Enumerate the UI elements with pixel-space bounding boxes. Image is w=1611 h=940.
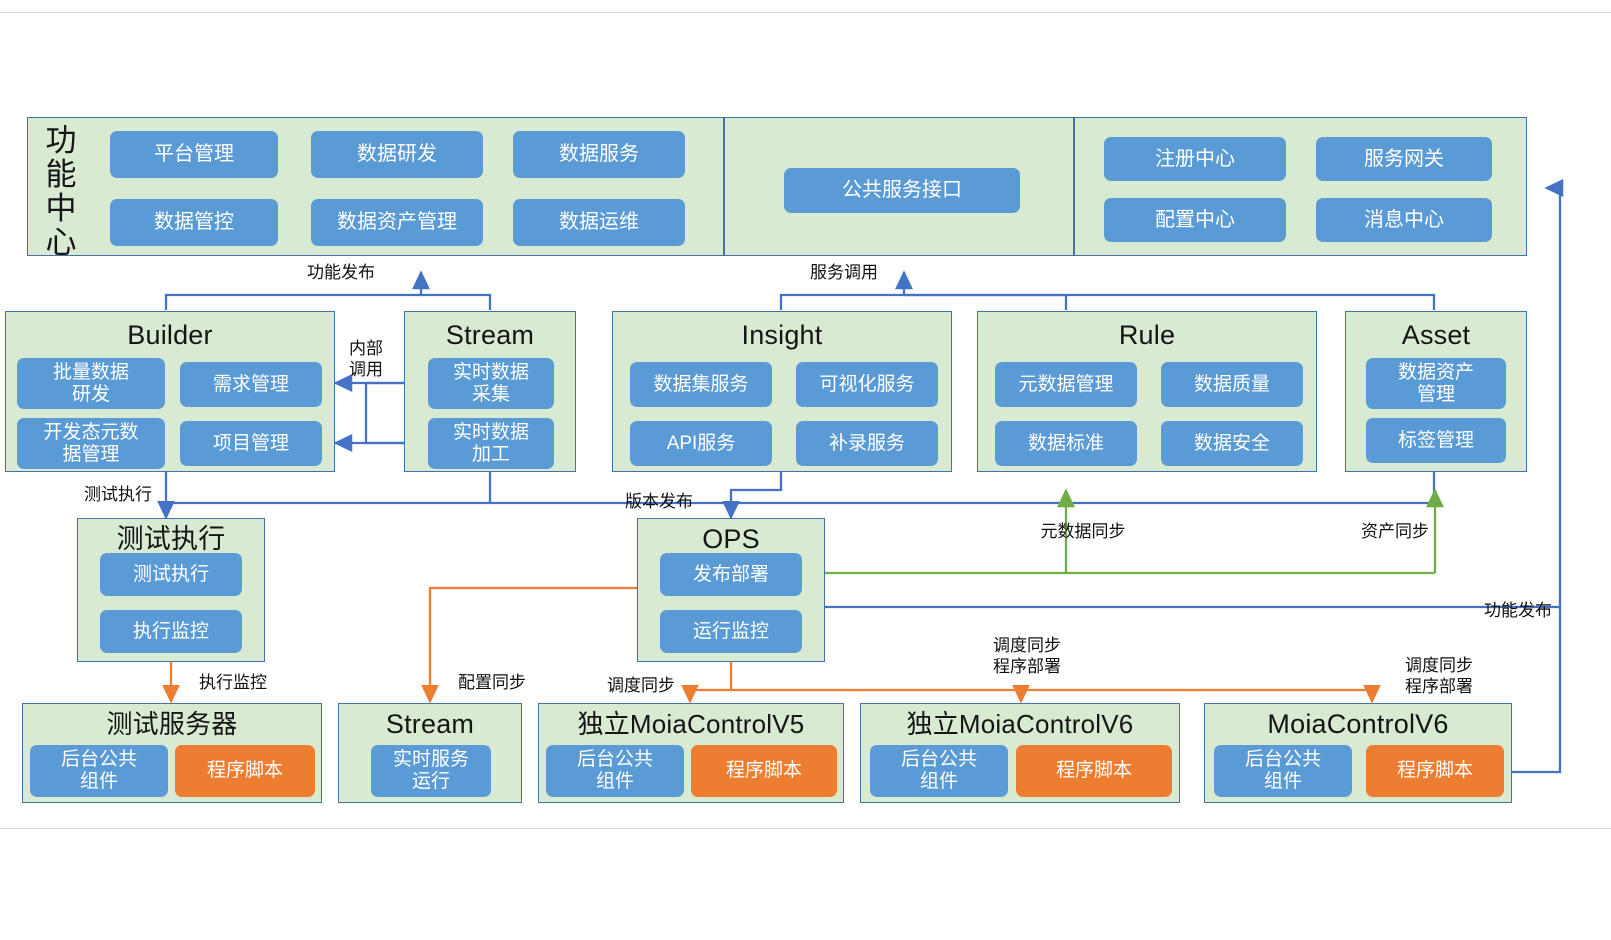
label-schedule-sync: 调度同步 — [589, 675, 693, 696]
chip-program-script-4[interactable]: 程序脚本 — [1366, 745, 1504, 797]
chip-data-governance[interactable]: 数据管控 — [110, 199, 278, 246]
label-test-execute: 测试执行 — [66, 484, 170, 505]
label-function-publish: 功能发布 — [281, 262, 401, 283]
chip-data-asset-management[interactable]: 数据资产管理 — [311, 199, 483, 246]
panel-rule-title: Rule — [977, 320, 1317, 350]
architecture-diagram: 功 能 中 心 平台管理 数据研发 数据服务 数据管控 数据资产管理 数据运维 … — [0, 0, 1611, 940]
label-metadata-sync: 元数据同步 — [1023, 521, 1143, 542]
chip-data-development[interactable]: 数据研发 — [311, 131, 483, 178]
panel-moia-v6-title: MoiaControlV6 — [1204, 709, 1512, 739]
function-center-label: 功 能 中 心 — [38, 124, 84, 260]
chip-tag-management[interactable]: 标签管理 — [1366, 418, 1506, 463]
chip-backend-common-2[interactable]: 后台公共 组件 — [546, 745, 684, 797]
chip-project-management[interactable]: 项目管理 — [180, 421, 322, 466]
label-function-publish-right: 功能发布 — [1448, 600, 1552, 621]
panel-stream-title: Stream — [404, 320, 576, 350]
chip-test-execution[interactable]: 测试执行 — [100, 553, 242, 596]
chip-service-gateway[interactable]: 服务网关 — [1316, 137, 1492, 181]
panel-asset-title: Asset — [1345, 320, 1527, 350]
panel-builder-title: Builder — [5, 320, 335, 350]
chip-public-service-interface[interactable]: 公共服务接口 — [784, 168, 1020, 213]
panel-insight-title: Insight — [612, 320, 952, 350]
panel-test-server-title: 测试服务器 — [22, 709, 322, 739]
chip-program-script-3[interactable]: 程序脚本 — [1016, 745, 1172, 797]
band-divider-2 — [1073, 117, 1075, 256]
panel-test-execution-title: 测试执行 — [77, 524, 265, 554]
chip-data-asset-mgmt[interactable]: 数据资产 管理 — [1366, 358, 1506, 409]
chip-supplement-service[interactable]: 补录服务 — [796, 421, 938, 466]
chip-config-center[interactable]: 配置中心 — [1104, 198, 1286, 242]
page-rule-top — [0, 12, 1611, 13]
panel-ops-title: OPS — [637, 524, 825, 554]
panel-moia-v6-standalone-title: 独立MoiaControlV6 — [860, 709, 1180, 739]
chip-data-operations[interactable]: 数据运维 — [513, 199, 685, 246]
chip-data-service[interactable]: 数据服务 — [513, 131, 685, 178]
chip-dataset-service[interactable]: 数据集服务 — [630, 362, 772, 407]
chip-runtime-monitor[interactable]: 运行监控 — [660, 610, 802, 653]
chip-requirement-management[interactable]: 需求管理 — [180, 362, 322, 407]
panel-stream-server-title: Stream — [338, 709, 522, 739]
chip-program-script-2[interactable]: 程序脚本 — [691, 745, 837, 797]
page-rule-bottom — [0, 828, 1611, 829]
chip-dev-metadata-management[interactable]: 开发态元数 据管理 — [17, 418, 165, 469]
chip-batch-data-dev[interactable]: 批量数据 研发 — [17, 358, 165, 409]
chip-data-standard[interactable]: 数据标准 — [995, 421, 1137, 466]
wire-version-publish — [731, 472, 781, 518]
chip-metadata-management[interactable]: 元数据管理 — [995, 362, 1137, 407]
chip-realtime-data-process[interactable]: 实时数据 加工 — [428, 418, 554, 469]
chip-data-security[interactable]: 数据安全 — [1161, 421, 1303, 466]
chip-execution-monitor[interactable]: 执行监控 — [100, 610, 242, 653]
chip-message-center[interactable]: 消息中心 — [1316, 198, 1492, 242]
chip-program-script-1[interactable]: 程序脚本 — [175, 745, 315, 797]
label-internal-call: 内部 调用 — [339, 338, 393, 380]
label-schedule-sync-deploy: 调度同步 程序部署 — [962, 635, 1092, 677]
chip-release-deploy[interactable]: 发布部署 — [660, 553, 802, 596]
chip-visualization-service[interactable]: 可视化服务 — [796, 362, 938, 407]
chip-realtime-service-run[interactable]: 实时服务 运行 — [371, 745, 491, 797]
label-asset-sync: 资产同步 — [1342, 521, 1448, 542]
label-schedule-sync-deploy-2: 调度同步 程序部署 — [1374, 655, 1504, 697]
chip-backend-common-4[interactable]: 后台公共 组件 — [1214, 745, 1352, 797]
chip-registry-center[interactable]: 注册中心 — [1104, 137, 1286, 181]
chip-platform-management[interactable]: 平台管理 — [110, 131, 278, 178]
chip-backend-common-1[interactable]: 后台公共 组件 — [30, 745, 168, 797]
wire-function-publish-right — [1512, 188, 1560, 772]
chip-realtime-data-collect[interactable]: 实时数据 采集 — [428, 358, 554, 409]
band-divider-1 — [723, 117, 725, 256]
chip-backend-common-3[interactable]: 后台公共 组件 — [870, 745, 1008, 797]
chip-data-quality[interactable]: 数据质量 — [1161, 362, 1303, 407]
label-exec-monitor: 执行监控 — [181, 672, 285, 693]
label-version-publish: 版本发布 — [607, 491, 711, 512]
panel-moia-v5-title: 独立MoiaControlV5 — [538, 709, 844, 739]
chip-api-service[interactable]: API服务 — [630, 421, 772, 466]
label-service-call: 服务调用 — [789, 262, 899, 283]
label-config-sync: 配置同步 — [440, 672, 544, 693]
